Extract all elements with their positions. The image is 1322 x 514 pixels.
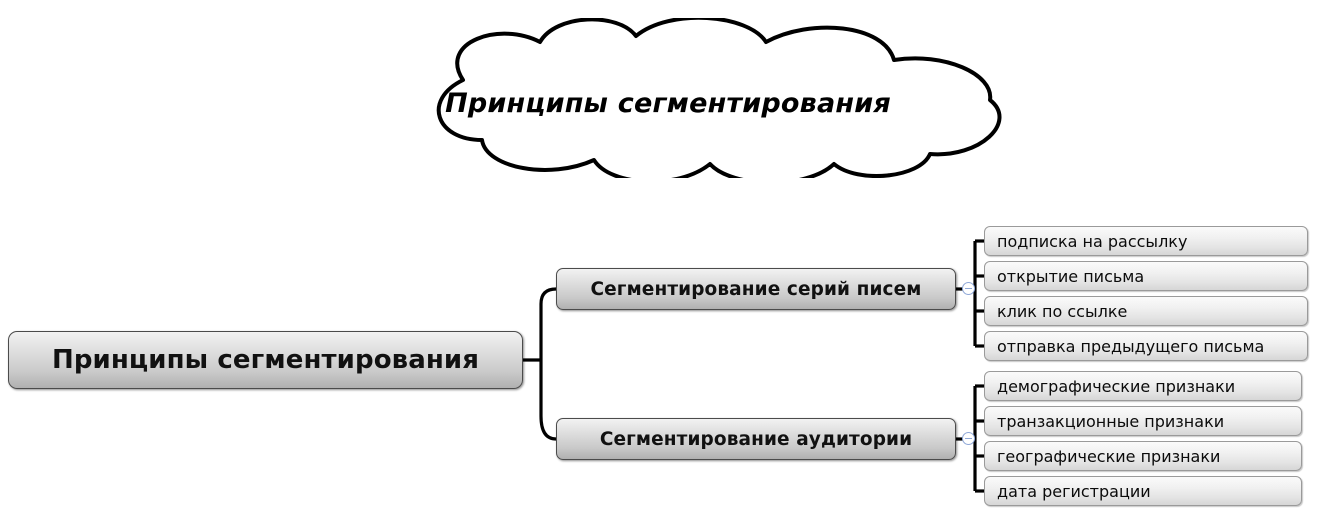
branch-node-email-series[interactable]: Сегментирование серий писем [556,268,956,310]
cloud-title-shape: Принципы сегментирования [318,18,1018,178]
collapse-minus-icon[interactable] [962,432,975,445]
root-node-label: Принципы сегментирования [52,345,479,375]
leaf-node[interactable]: клик по ссылке [984,296,1308,326]
leaf-node-label: подписка на рассылку [997,232,1187,251]
mindmap-canvas: Принципы сегментирования [0,0,1322,514]
leaf-node[interactable]: открытие письма [984,261,1308,291]
leaf-node[interactable]: географические признаки [984,441,1302,471]
connector-root-to-branch-0 [541,289,556,304]
leaf-node[interactable]: подписка на рассылку [984,226,1308,256]
leaf-node-label: клик по ссылке [997,302,1127,321]
branch-node-label: Сегментирование аудитории [600,429,912,450]
leaf-node[interactable]: дата регистрации [984,476,1302,506]
leaf-node-label: демографические признаки [997,377,1235,396]
branch-node-label: Сегментирование серий писем [590,279,921,300]
branch-node-audience[interactable]: Сегментирование аудитории [556,418,956,460]
leaf-node-label: дата регистрации [997,482,1151,501]
leaf-node-label: географические признаки [997,447,1220,466]
cloud-title-label: Принципы сегментирования [318,88,1018,119]
leaf-node[interactable]: демографические признаки [984,371,1302,401]
leaf-node[interactable]: транзакционные признаки [984,406,1302,436]
leaf-node[interactable]: отправка предыдущего письма [984,331,1308,361]
leaf-node-label: отправка предыдущего письма [997,337,1264,356]
leaf-node-label: открытие письма [997,267,1144,286]
root-node[interactable]: Принципы сегментирования [8,331,523,389]
leaf-node-label: транзакционные признаки [997,412,1224,431]
connector-root-to-branch-1 [541,416,556,439]
collapse-minus-icon[interactable] [962,282,975,295]
